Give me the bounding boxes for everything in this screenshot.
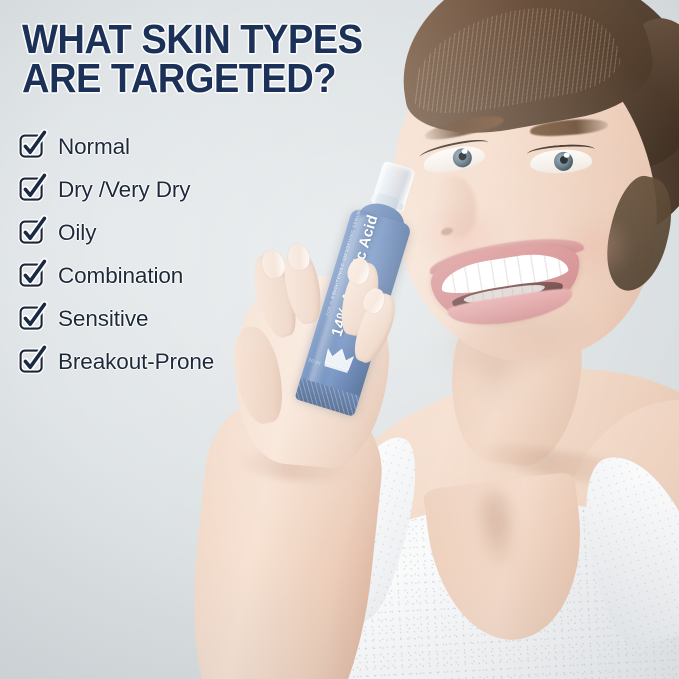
list-item-label: Oily [58, 220, 96, 246]
list-item[interactable]: Sensitive [20, 297, 320, 340]
list-item[interactable]: Breakout-Prone [20, 340, 320, 383]
headline-line-2: ARE TARGETED? [22, 59, 413, 98]
list-item[interactable]: Normal [20, 125, 320, 168]
checkbox-checked-icon[interactable] [20, 219, 47, 246]
list-item-label: Normal [58, 134, 130, 160]
list-item[interactable]: Oily [20, 211, 320, 254]
checkbox-checked-icon[interactable] [20, 176, 47, 203]
list-item-label: Breakout-Prone [58, 349, 214, 375]
list-item-label: Sensitive [58, 306, 148, 332]
checkbox-checked-icon[interactable] [20, 305, 47, 332]
list-item[interactable]: Combination [20, 254, 320, 297]
skin-type-checklist: Normal Dry /Very Dry [20, 125, 320, 383]
page-title: WHAT SKIN TYPES ARE TARGETED? [22, 20, 413, 99]
list-item[interactable]: Dry /Very Dry [20, 168, 320, 211]
checkbox-checked-icon[interactable] [20, 262, 47, 289]
list-item-label: Combination [58, 263, 183, 289]
checkbox-checked-icon[interactable] [20, 348, 47, 375]
list-item-label: Dry /Very Dry [58, 177, 190, 203]
product-promo-poster: BRIGHTENING SMOOTHING SERUM 14% Azelaic … [0, 0, 679, 679]
checkbox-checked-icon[interactable] [20, 133, 47, 160]
